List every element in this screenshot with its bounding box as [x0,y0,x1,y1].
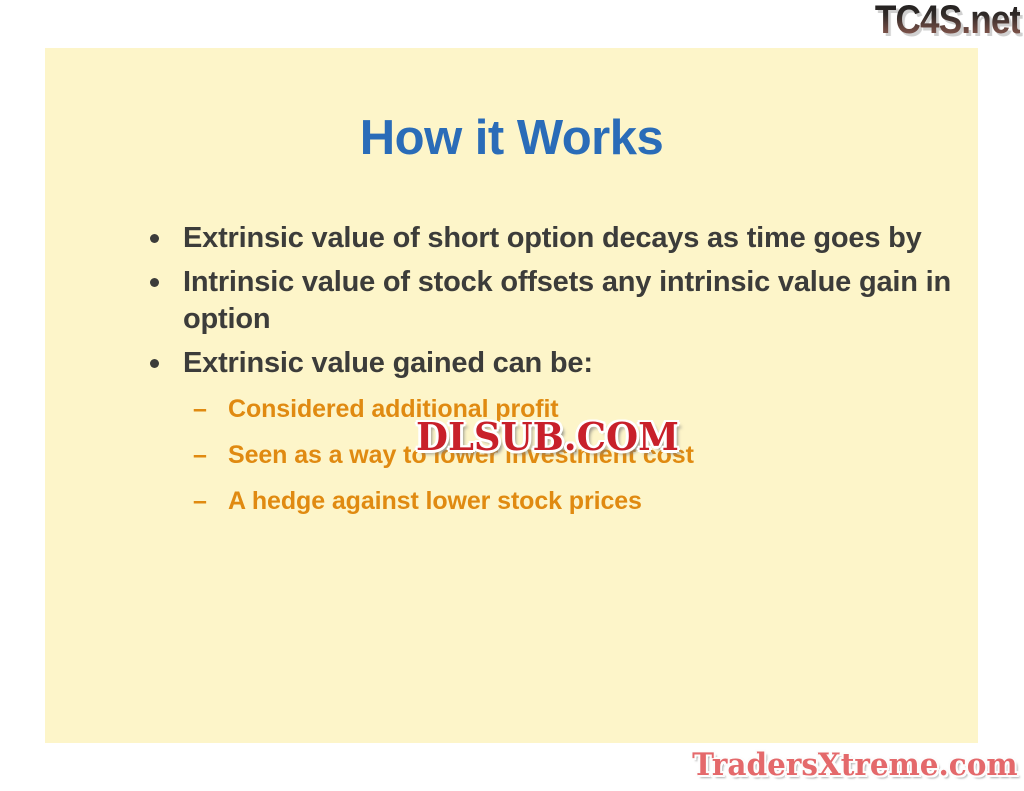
list-item: – Considered additional profit [95,393,955,426]
list-item-label: A hedge against lower stock prices [228,487,642,515]
list-item: Extrinsic value of short option decays a… [95,220,943,257]
bullet-list: Extrinsic value of short option decays a… [95,220,955,531]
dash-marker-icon: – [193,393,207,426]
list-item: – A hedge against lower stock prices [95,485,955,518]
bullet-dot-icon [150,359,159,368]
list-item-label: Intrinsic value of stock offsets any int… [183,266,951,335]
list-item-label: Seen as a way to lower investment cost [228,441,694,469]
list-item-label: Extrinsic value of short option decays a… [183,222,922,254]
list-item: Intrinsic value of stock offsets any int… [95,264,973,338]
list-item-label: Extrinsic value gained can be: [183,347,593,379]
dash-marker-icon: – [193,439,207,472]
site-logo-top-right: TC4S.net [874,0,1020,42]
sub-bullet-list: – Considered additional profit – Seen as… [95,393,955,518]
site-logo-bottom-right: TradersXtreme.com [693,747,1018,783]
bullet-dot-icon [150,278,159,287]
page-title: How it Works [45,110,978,166]
list-item-label: Considered additional profit [228,395,559,423]
list-item: Extrinsic value gained can be: [95,345,955,382]
list-item: – Seen as a way to lower investment cost [95,439,955,472]
dash-marker-icon: – [193,485,207,518]
bullet-dot-icon [150,234,159,243]
slide-panel: How it Works Extrinsic value of short op… [45,48,978,743]
